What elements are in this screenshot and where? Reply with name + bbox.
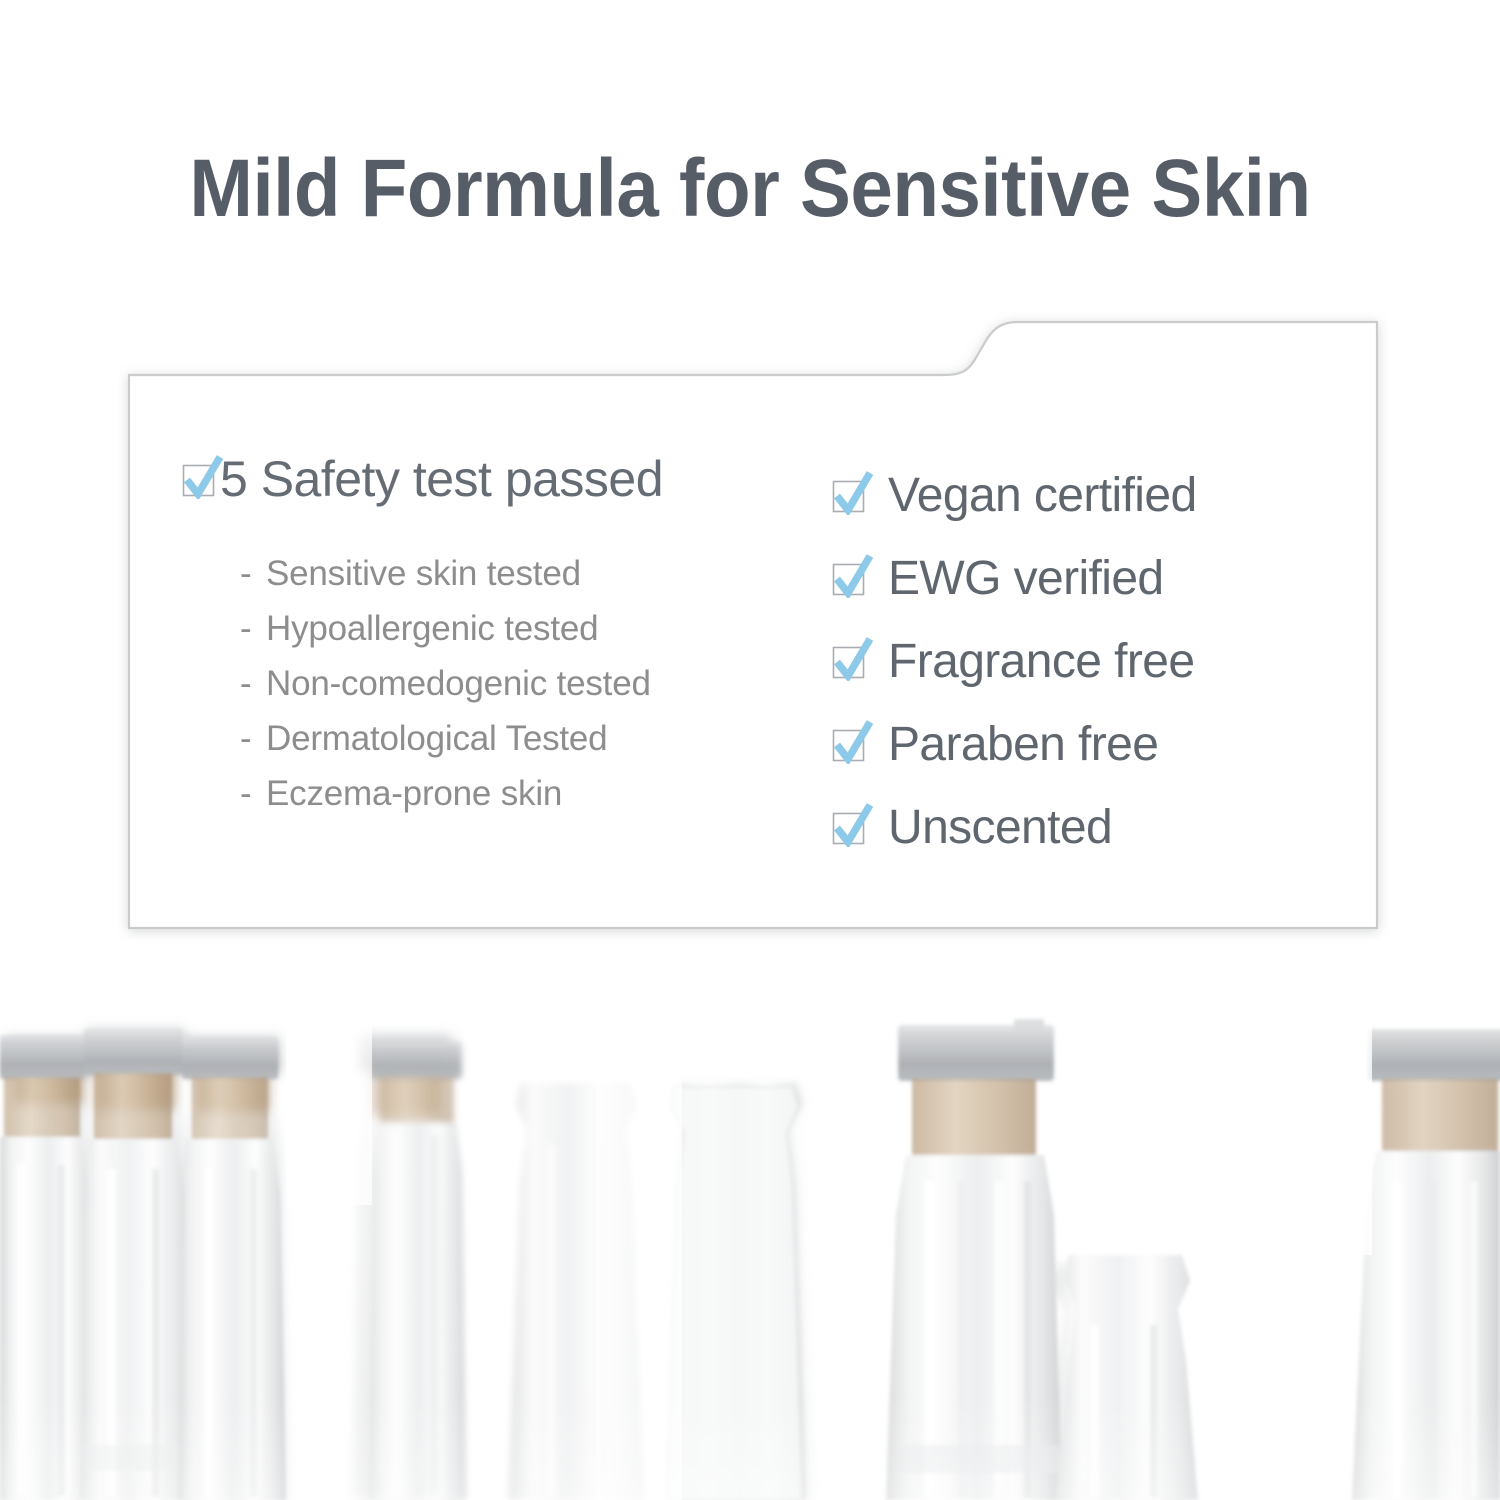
claim-row-fragrance-free[interactable]: Fragrance free: [830, 620, 1350, 703]
safety-test-sublist: -Sensitive skin tested -Hypoallergenic t…: [240, 546, 800, 821]
list-item-label: Sensitive skin tested: [266, 554, 581, 593]
list-item-dash: -: [240, 766, 266, 821]
card-content: 5 Safety test passed -Sensitive skin tes…: [118, 312, 1388, 940]
list-item-dash: -: [240, 601, 266, 656]
list-item: -Hypoallergenic tested: [240, 601, 800, 656]
list-item-label: Non-comedogenic tested: [266, 664, 651, 703]
product-feature-graphic: Mild Formula for Sensitive Skin: [0, 0, 1500, 1500]
list-item-label: Eczema-prone skin: [266, 774, 562, 813]
claim-label: EWG verified: [888, 555, 1164, 603]
claim-row-ewg-verified[interactable]: EWG verified: [830, 537, 1350, 620]
list-item: -Dermatological Tested: [240, 711, 800, 766]
checkbox-checked-icon[interactable]: [180, 465, 216, 501]
claim-row-paraben-free[interactable]: Paraben free: [830, 703, 1350, 786]
list-item: -Eczema-prone skin: [240, 766, 800, 821]
safety-test-heading-row: 5 Safety test passed: [180, 454, 800, 504]
list-item-dash: -: [240, 546, 266, 601]
list-item: -Sensitive skin tested: [240, 546, 800, 601]
claim-row-unscented[interactable]: Unscented: [830, 786, 1350, 869]
checkbox-checked-icon[interactable]: [830, 730, 866, 766]
checkbox-checked-icon[interactable]: [830, 647, 866, 683]
list-item-dash: -: [240, 711, 266, 766]
checkbox-checked-icon[interactable]: [830, 481, 866, 517]
list-item: -Non-comedogenic tested: [240, 656, 800, 711]
claim-label: Paraben free: [888, 721, 1158, 769]
feature-card: 5 Safety test passed -Sensitive skin tes…: [118, 312, 1388, 940]
claim-label: Unscented: [888, 804, 1112, 852]
safety-test-heading-label: 5 Safety test passed: [220, 454, 663, 504]
claim-label: Fragrance free: [888, 638, 1194, 686]
list-item-label: Hypoallergenic tested: [266, 609, 598, 648]
checkbox-checked-icon[interactable]: [830, 813, 866, 849]
claim-label: Vegan certified: [888, 472, 1197, 520]
clear-glass-bottles-photo: [0, 1005, 1500, 1500]
claim-row-vegan-certified[interactable]: Vegan certified: [830, 454, 1350, 537]
list-item-label: Dermatological Tested: [266, 719, 607, 758]
left-column: 5 Safety test passed -Sensitive skin tes…: [180, 454, 800, 821]
bottles-illustration: [0, 1005, 1500, 1500]
right-column: Vegan certified EWG verified: [830, 454, 1350, 869]
checkbox-checked-icon[interactable]: [830, 564, 866, 600]
list-item-dash: -: [240, 656, 266, 711]
page-title: Mild Formula for Sensitive Skin: [53, 148, 1448, 230]
